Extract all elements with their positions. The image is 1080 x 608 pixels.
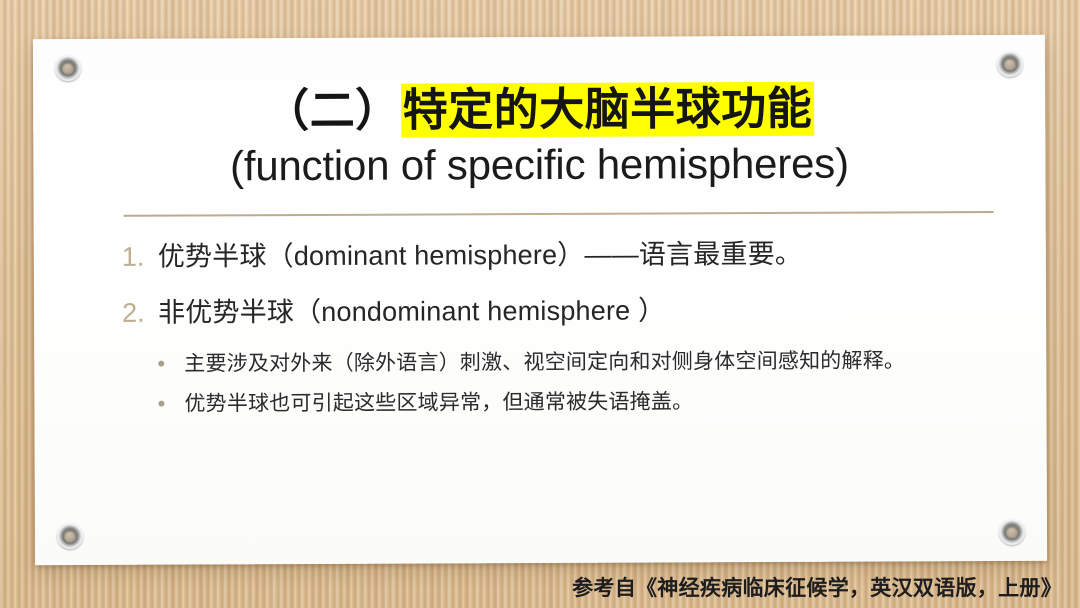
list-item: 2. 非优势半球（nondominant hemisphere ） — [122, 293, 1006, 331]
bullet-dot-icon — [158, 350, 184, 366]
sub-bullet-list: 主要涉及对外来（除外语言）刺激、视空间定向和对侧身体空间感知的解释。 优势半球也… — [158, 346, 1006, 418]
title-chinese-prefix: （二） — [264, 85, 401, 137]
numbered-list: 1. 优势半球（dominant hemisphere）——语言最重要。 2. … — [122, 237, 1007, 431]
list-item-number: 2. — [122, 296, 158, 330]
sub-list-item: 主要涉及对外来（除外语言）刺激、视空间定向和对侧身体空间感知的解释。 — [158, 346, 1006, 378]
list-item-number: 1. — [122, 241, 158, 275]
title-divider — [124, 211, 994, 217]
sub-list-item-label: 优势半球也可引起这些区域异常，但通常被失语掩盖。 — [184, 388, 693, 419]
list-item-label: 优势半球（dominant hemisphere）——语言最重要。 — [158, 238, 802, 275]
title-english: (function of specific hemispheres) — [33, 139, 1045, 190]
list-item: 1. 优势半球（dominant hemisphere）——语言最重要。 — [122, 237, 1006, 275]
sub-list-item: 优势半球也可引起这些区域异常，但通常被失语掩盖。 — [158, 387, 1006, 419]
source-attribution: 参考自《神经疾病临床征候学，英汉双语版，上册》 — [572, 572, 1062, 602]
bullet-dot-icon — [158, 390, 184, 406]
title-chinese-highlighted: 特定的大脑半球功能 — [401, 82, 815, 138]
slide-canvas: （二）特定的大脑半球功能 (function of specific hemis… — [0, 0, 1080, 608]
whiteboard-panel: （二）特定的大脑半球功能 (function of specific hemis… — [33, 35, 1047, 565]
title-chinese: （二）特定的大脑半球功能 — [33, 83, 1045, 138]
list-item-label: 非优势半球（nondominant hemisphere ） — [158, 294, 665, 330]
sub-list-item-label: 主要涉及对外来（除外语言）刺激、视空间定向和对侧身体空间感知的解释。 — [184, 347, 905, 378]
page-title: （二）特定的大脑半球功能 (function of specific hemis… — [33, 83, 1045, 191]
slide-content: （二）特定的大脑半球功能 (function of specific hemis… — [33, 35, 1047, 565]
